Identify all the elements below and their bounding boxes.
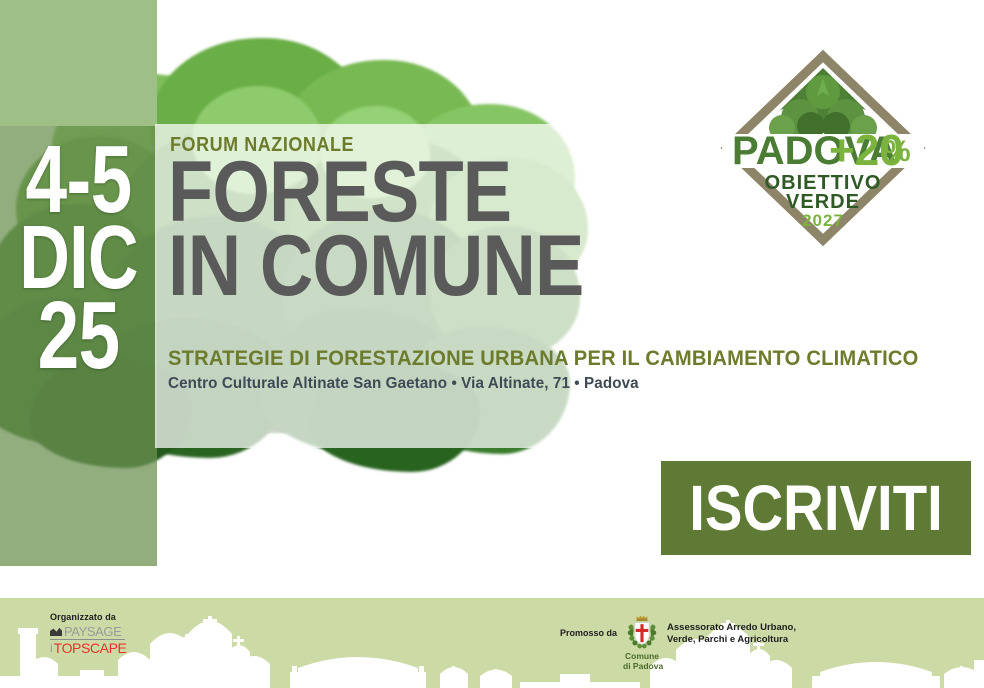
event-date-column: 4-5 DIC 25 bbox=[0, 140, 157, 377]
paysage-logo[interactable]: PAYSAGE bbox=[50, 625, 125, 640]
logo-goal-year: 2027 bbox=[802, 211, 844, 230]
left-panel-top-tint bbox=[0, 0, 157, 126]
topscape-prefix-text: i bbox=[50, 642, 53, 654]
event-tagline: STRATEGIE DI FORESTAZIONE URBANA PER IL … bbox=[168, 347, 919, 371]
department-line-2: Verde, Parchi e Agricoltura bbox=[667, 634, 788, 645]
iscriviti-button[interactable]: ISCRIVITI bbox=[661, 461, 971, 555]
topscape-logo[interactable]: i TOPSCAPE bbox=[50, 641, 125, 655]
poster-banner: 4-5 DIC 25 FORUM NAZIONALE FORESTE IN CO… bbox=[0, 0, 984, 566]
poster-footer: Organizzato da PAYSAGE i TOPSCAPE Promos… bbox=[0, 598, 984, 688]
promoter-block: Promosso da bbox=[560, 614, 796, 672]
iscriviti-button-label: ISCRIVITI bbox=[689, 476, 942, 540]
date-year: 25 bbox=[17, 296, 139, 377]
padova-obiettivo-verde-logo: PADOVA +20 % OBIETTIVO VERDE 2027 bbox=[716, 48, 930, 248]
department-text: Assessorato Arredo Urbano, Verde, Parchi… bbox=[667, 622, 796, 646]
event-venue: Centro Culturale Altinate San Gaetano • … bbox=[168, 375, 639, 393]
title-line-2: IN COMUNE bbox=[168, 230, 787, 304]
crest-label: Comune di Padova bbox=[623, 652, 661, 672]
logo-percent-text: % bbox=[884, 135, 911, 168]
comune-di-padova-crest-wrap: Comune di Padova bbox=[623, 614, 661, 672]
topscape-logo-text: TOPSCAPE bbox=[54, 641, 127, 655]
crest-label-line-1: Comune bbox=[625, 651, 659, 661]
comune-di-padova-crest-icon bbox=[623, 614, 661, 650]
paysage-mark-icon bbox=[50, 627, 62, 636]
padova-skyline-silhouette bbox=[0, 616, 984, 688]
paysage-logo-text: PAYSAGE bbox=[64, 625, 121, 638]
department-line-1: Assessorato Arredo Urbano, bbox=[667, 622, 796, 633]
event-poster: 4-5 DIC 25 FORUM NAZIONALE FORESTE IN CO… bbox=[0, 0, 984, 688]
logo-goal-line-2: VERDE bbox=[786, 191, 860, 213]
crest-label-line-2: di Padova bbox=[623, 661, 663, 671]
organizer-caption: Organizzato da bbox=[50, 612, 125, 622]
promoter-caption: Promosso da bbox=[560, 628, 617, 638]
organizer-block: Organizzato da PAYSAGE i TOPSCAPE bbox=[50, 612, 125, 655]
